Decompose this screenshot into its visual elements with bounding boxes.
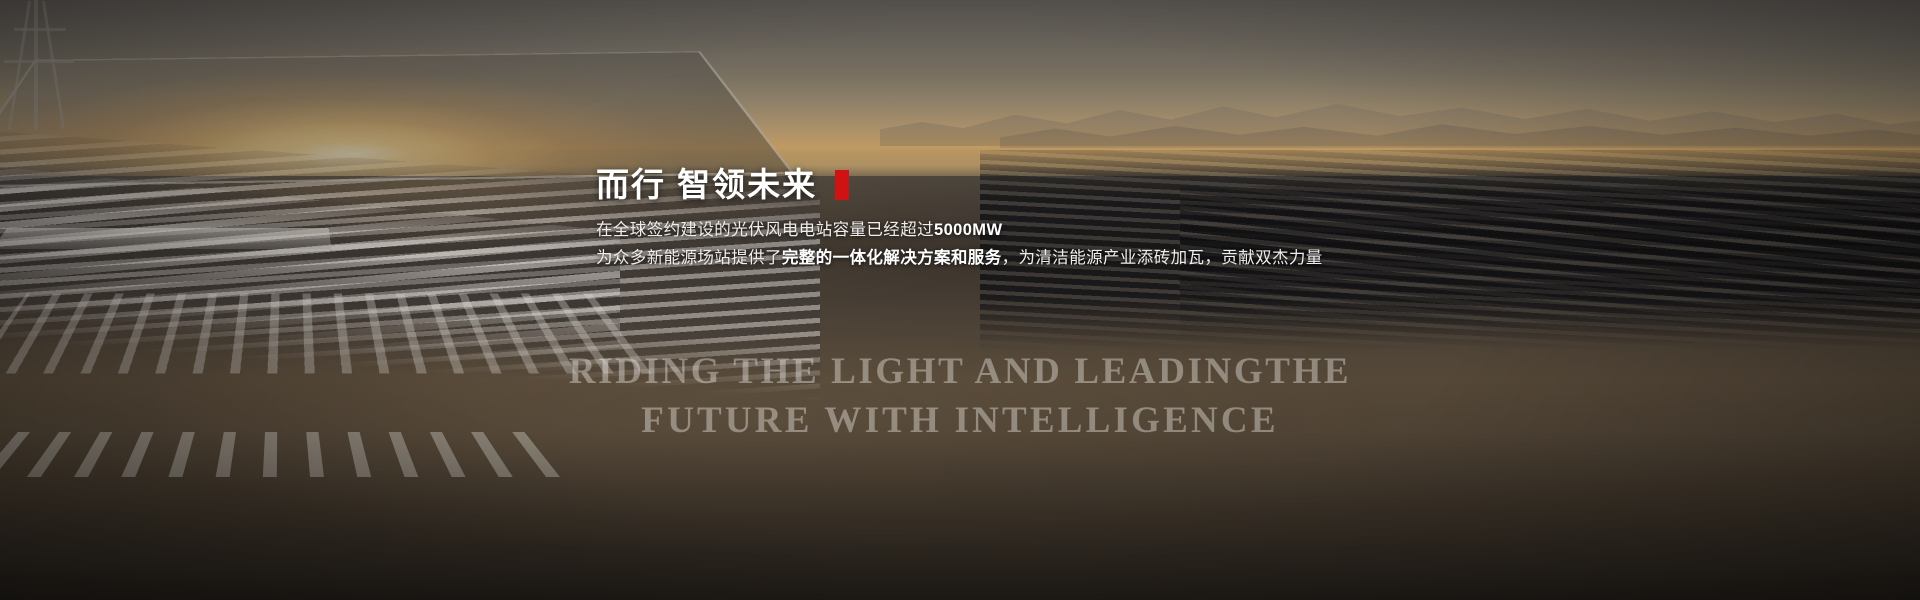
banner-copy-block: 而行 智领未来 在全球签约建设的光伏风电电站容量已经超过5000MW 为众多新能… — [596, 166, 1536, 271]
calligraphy-logo: 驭光 — [283, 37, 611, 309]
banner-subtitle-line-2: 为众多新能源场站提供了完整的一体化解决方案和服务，为清洁能源产业添砖加瓦，贡献双… — [596, 245, 1536, 272]
subtitle-2-part-1: 为众多新能源场站提供了 — [596, 249, 782, 267]
subtitle-1-highlight: 5000MW — [934, 221, 1002, 239]
subtitle-2-highlight: 完整的一体化解决方案和服务 — [782, 249, 1002, 267]
hero-banner: 驭光 而行 智领未来 在全球签约建设的光伏风电电站容量已经超过5000MW 为众… — [0, 0, 1920, 600]
headline-accent-bar — [835, 170, 849, 200]
tagline-line-1: RIDING THE LIGHT AND LEADINGTHE — [0, 348, 1920, 397]
calligraphy-char-guang: 光 — [402, 16, 565, 220]
tagline-line-2: FUTURE WITH INTELLIGENCE — [0, 397, 1920, 446]
subtitle-1-prefix: 在全球签约建设的光伏风电电站容量已经超过 — [596, 221, 934, 239]
banner-headline: 而行 智领未来 — [596, 166, 1536, 205]
headline-text: 而行 智领未来 — [596, 166, 817, 205]
banner-subtitle-line-1: 在全球签约建设的光伏风电电站容量已经超过5000MW — [596, 217, 1536, 244]
subtitle-2-part-2: ，为清洁能源产业添砖加瓦，贡献双杰力量 — [1002, 249, 1323, 267]
english-tagline: RIDING THE LIGHT AND LEADINGTHE FUTURE W… — [0, 348, 1920, 446]
